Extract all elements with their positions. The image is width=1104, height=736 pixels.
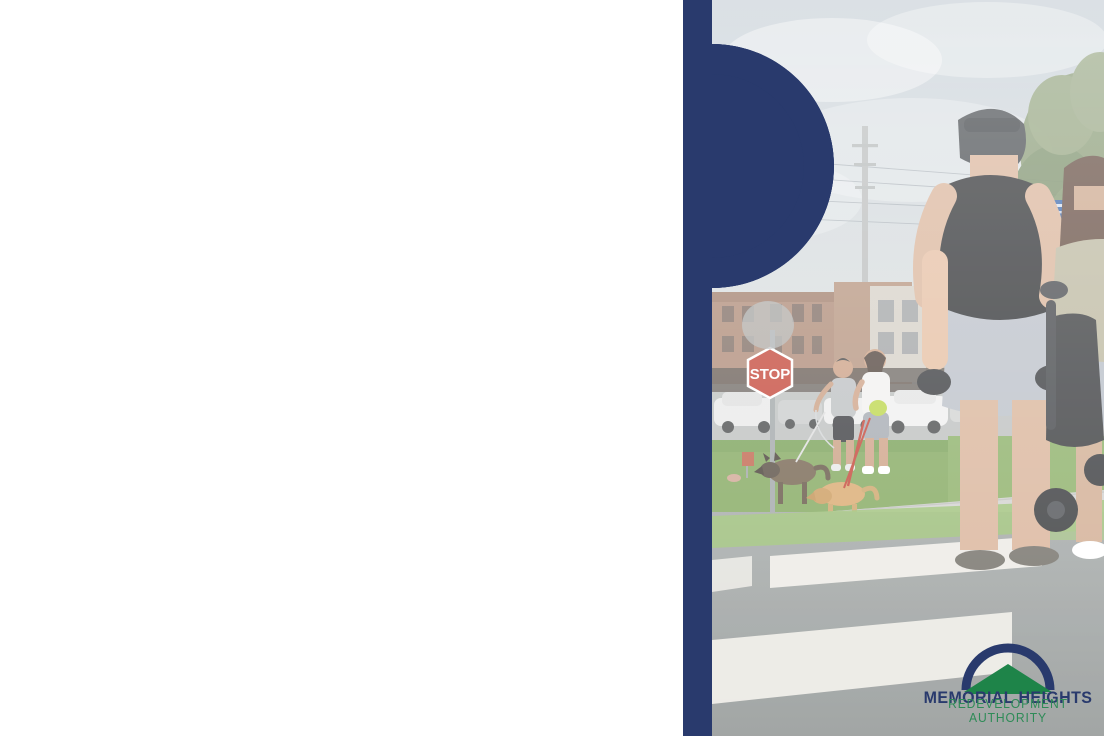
arch-with-roof-icon <box>964 648 1052 694</box>
logo-tagline: REDEVELOPMENT AUTHORITY <box>923 697 1094 725</box>
memorial-heights-logo: MEMORIAL HEIGHTS REDEVELOPMENT AUTHORITY <box>920 626 1096 730</box>
poster: STOP <box>0 0 1104 736</box>
left-content-panel <box>0 0 690 736</box>
